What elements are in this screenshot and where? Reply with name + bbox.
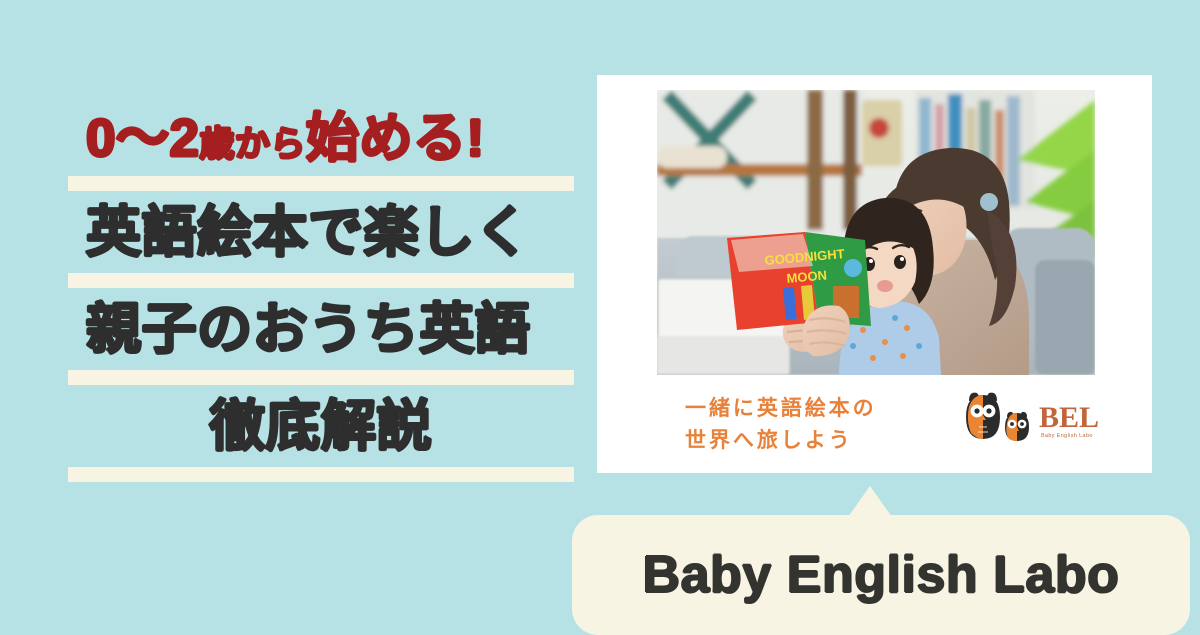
headline-line-1-text: 0～2歳から始める! [68,112,574,165]
speech-bubble: Baby English Labo [572,515,1190,635]
headline-line-2-text: 英語絵本で楽しく [68,205,574,260]
headline-block: 0～2歳から始める! 英語絵本で楽しく 親子のおうち英語 徹底解説 [68,112,574,482]
headline-line-3: 親子のおうち英語 [68,302,574,385]
speech-bubble-tail [848,486,892,517]
promo-card: GOODNIGHT MOON 一緒に英語絵本の 世界へ旅しよう [597,75,1152,473]
headline-line-3-text: 親子のおうち英語 [68,302,574,357]
card-caption-line-2: 世界へ旅しよう [685,425,877,457]
headline-line-4: 徹底解説 [68,399,574,482]
card-caption: 一緒に英語絵本の 世界へ旅しよう [685,393,877,457]
bel-logo: BEL Baby English Labo [957,387,1105,449]
headline-underline-bar-4 [68,467,574,482]
bel-wordmark: BEL [1039,401,1099,434]
headline-line-1-prefix: 0～2 [86,109,199,168]
bel-tagline: Baby English Labo [1041,433,1093,439]
brand-name: Baby English Labo [643,545,1120,605]
headline-line-2: 英語絵本で楽しく [68,205,574,288]
headline-line-1-small: 歳から [199,125,306,164]
headline-line-1: 0～2歳から始める! [68,112,574,191]
headline-underline-bar-1 [68,176,574,191]
headline-underline-bar-3 [68,370,574,385]
owl-large-icon [966,393,1000,439]
headline-line-1-tail: 始める! [306,109,485,168]
reading-photo: GOODNIGHT MOON [657,90,1095,375]
headline-underline-bar-2 [68,273,574,288]
headline-line-4-text: 徹底解説 [68,399,574,454]
owl-small-icon [1005,412,1029,441]
card-caption-line-1: 一緒に英語絵本の [685,393,877,425]
